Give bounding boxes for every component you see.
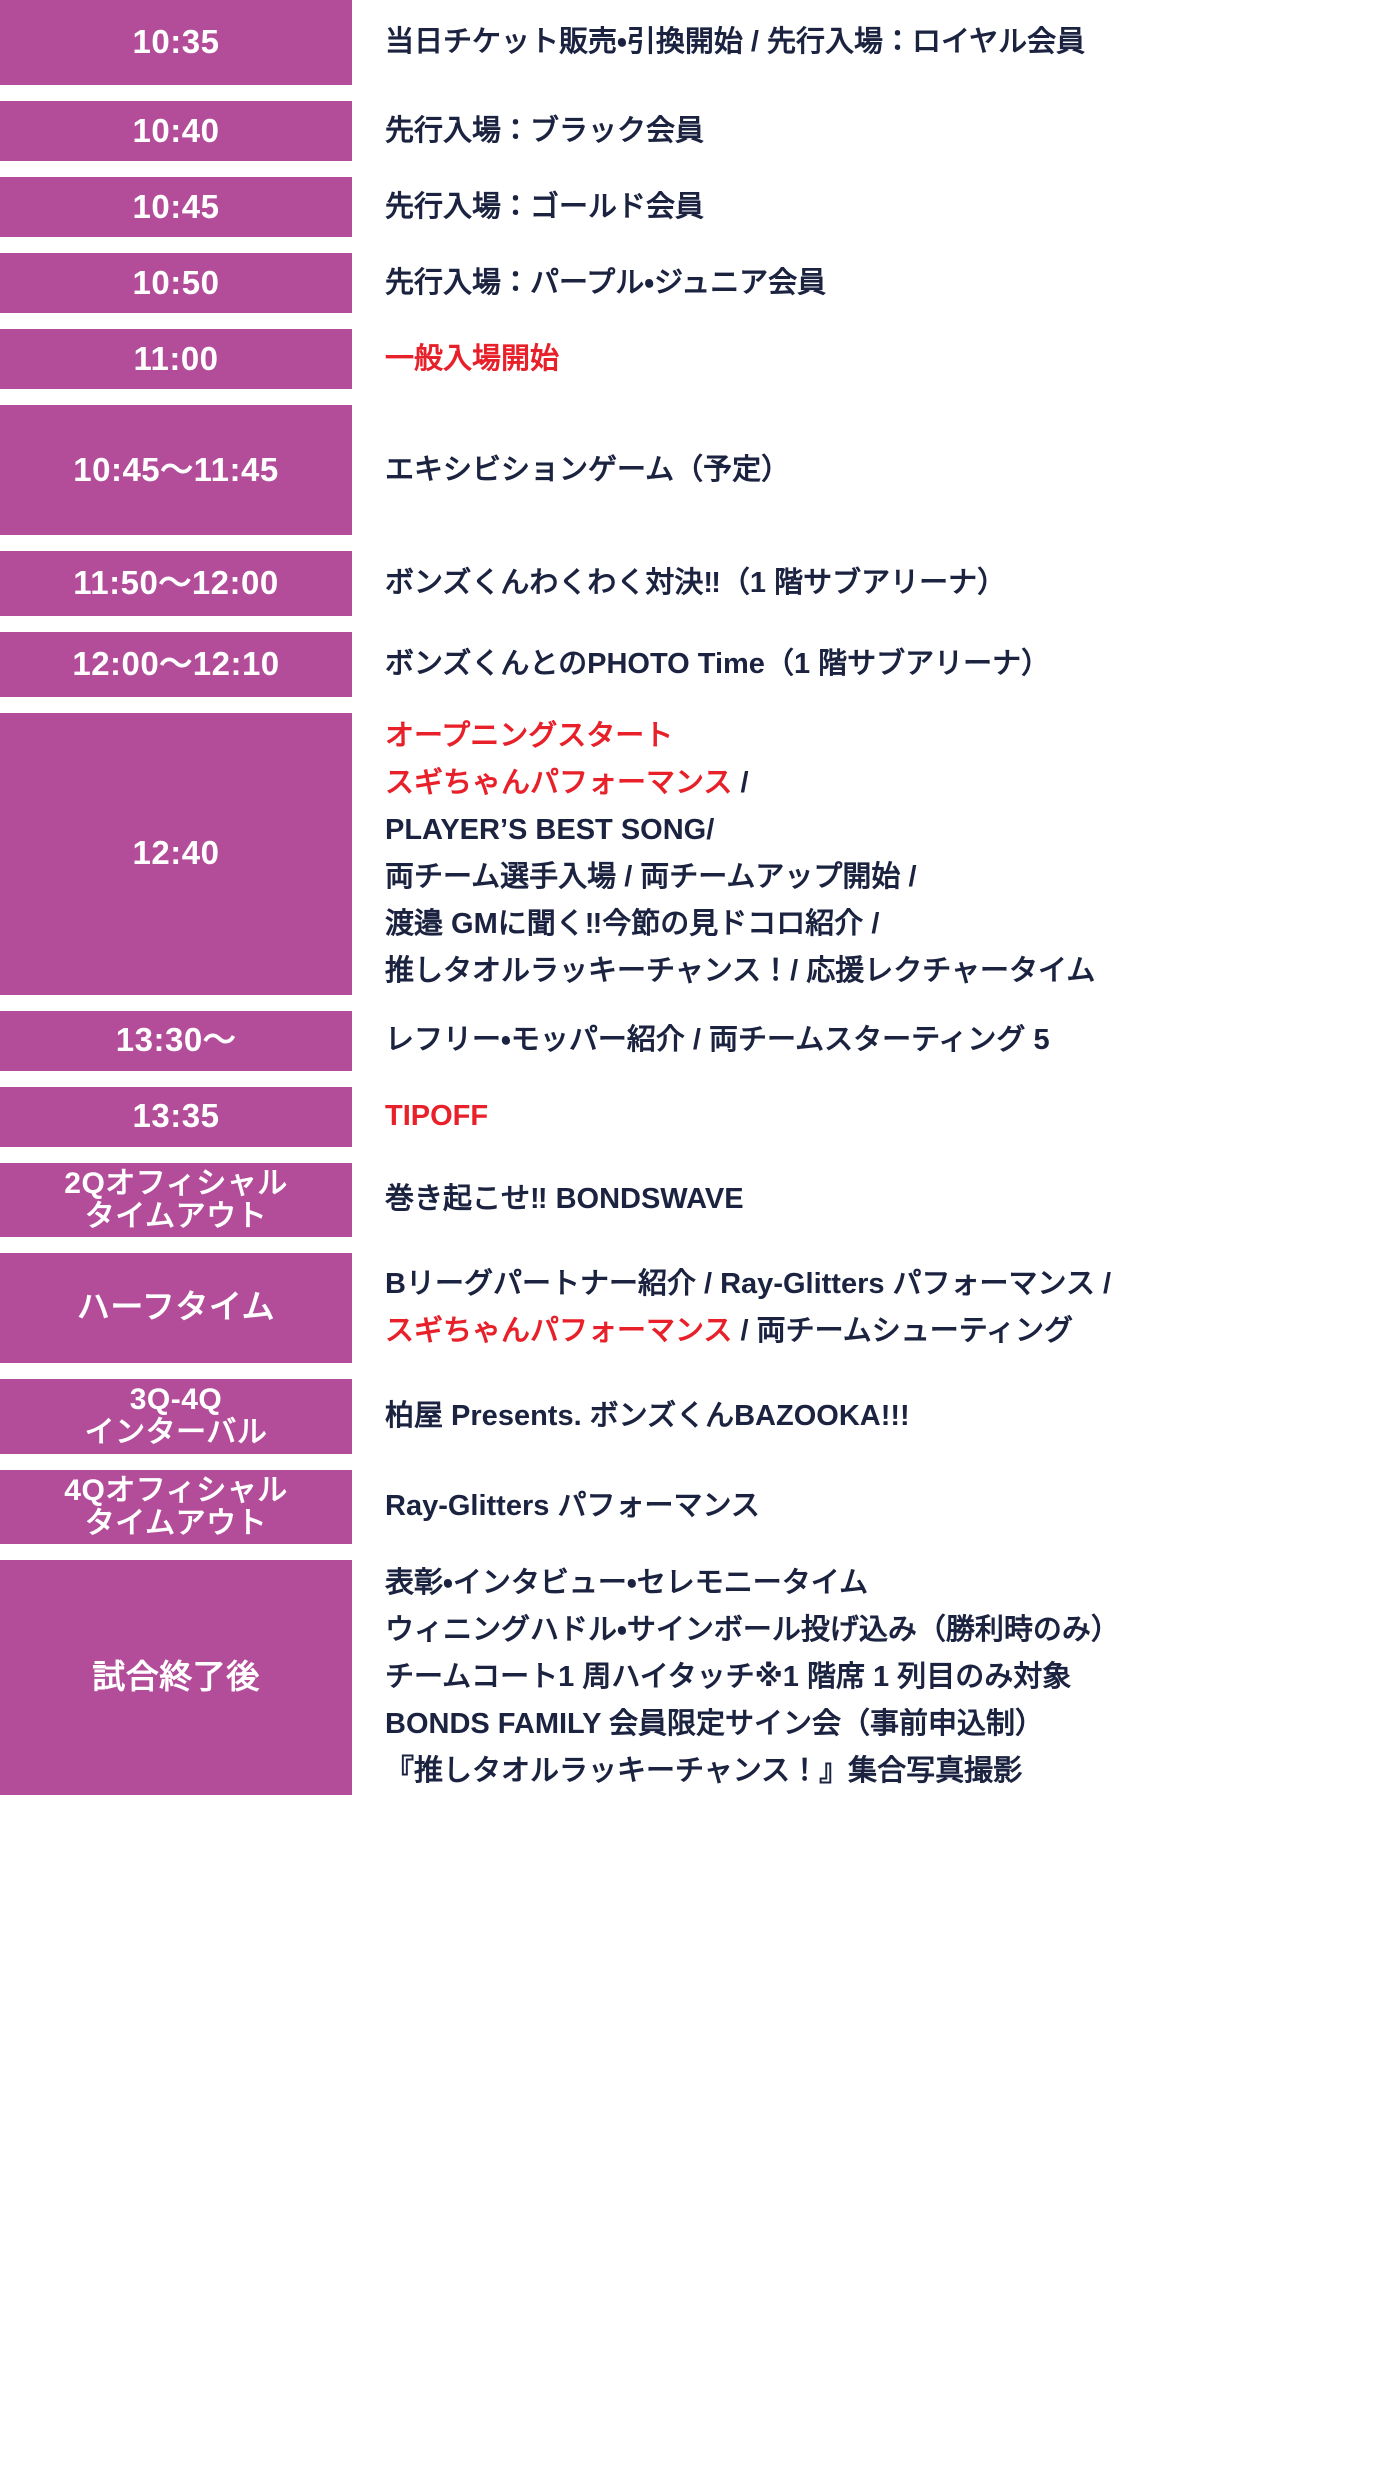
description-line: レフリー・モッパー紹介 / 両チームスターティング 5 <box>385 1017 1400 1064</box>
time-label-text: 10:40 <box>133 112 220 151</box>
timetable-row: 3Q-4Q インターバル柏屋 Presents. ボンズくんBAZOOKA!!! <box>0 1379 1400 1454</box>
description-line: 両チーム選手入場 / 両チームアップ開始 / <box>385 854 1400 901</box>
description-cell: TIPOFF <box>352 1087 1400 1147</box>
timetable-row: 10:45〜11:45エキシビションゲーム（予定） <box>0 405 1400 535</box>
description-line: チームコート1 周ハイタッチ※1 階席 1 列目のみ対象 <box>385 1654 1400 1701</box>
description-line: 先行入場：ブラック会員 <box>385 108 1400 155</box>
description-text: 渡邉 GMに聞く‼今節の見ドコロ紹介 / <box>385 908 879 940</box>
description-cell: 巻き起こせ‼ BONDSWAVE <box>352 1163 1400 1237</box>
description-line: 当日チケット販売・引換開始 / 先行入場：ロイヤル会員 <box>385 19 1400 66</box>
description-line: 先行入場：パープル・ジュニア会員 <box>385 260 1400 307</box>
description-cell: オープニングスタートスギちゃんパフォーマンス /PLAYER’S BEST SO… <box>352 713 1400 995</box>
timetable-row: 10:40先行入場：ブラック会員 <box>0 101 1400 161</box>
time-label: 13:35 <box>0 1087 352 1147</box>
description-cell: Ray-Glitters パフォーマンス <box>352 1470 1400 1544</box>
description-cell: 一般入場開始 <box>352 329 1400 389</box>
description-text: エキシビションゲーム（予定） <box>385 454 790 486</box>
timetable-row: 10:35当日チケット販売・引換開始 / 先行入場：ロイヤル会員 <box>0 0 1400 85</box>
description-text: PLAYER’S BEST SONG/ <box>385 814 714 846</box>
time-label: 12:40 <box>0 713 352 995</box>
description-text: 柏屋 Presents. ボンズくんBAZOOKA!!! <box>385 1400 910 1432</box>
description-text: 先行入場：パープル・ジュニア会員 <box>385 267 826 299</box>
description-line: スギちゃんパフォーマンス / <box>385 760 1400 807</box>
highlight-text: スギちゃんパフォーマンス <box>385 767 732 799</box>
time-label-text: 11:00 <box>133 340 218 379</box>
description-line: 表彰・インタビュー・セレモニータイム <box>385 1560 1400 1607</box>
timetable-row: 10:50先行入場：パープル・ジュニア会員 <box>0 253 1400 313</box>
description-text: ボンズくんわくわく対決‼（1 階サブアリーナ） <box>385 567 1006 599</box>
timetable-row: 試合終了後表彰・インタビュー・セレモニータイムウィニングハドル・サインボール投げ… <box>0 1560 1400 1795</box>
timetable-row: 12:40オープニングスタートスギちゃんパフォーマンス /PLAYER’S BE… <box>0 713 1400 995</box>
description-line: オープニングスタート <box>385 713 1400 760</box>
time-label-text: 12:40 <box>133 834 220 873</box>
description-text: 表彰・インタビュー・セレモニータイム <box>385 1567 868 1599</box>
description-text: レフリー・モッパー紹介 / 両チームスターティング 5 <box>385 1024 1050 1056</box>
description-line: スギちゃんパフォーマンス / 両チームシューティング <box>385 1308 1400 1355</box>
highlight-text: TIPOFF <box>385 1100 488 1132</box>
time-label-text: 10:45 <box>133 188 220 227</box>
description-line: BONDS FAMILY 会員限定サイン会（事前申込制） <box>385 1701 1400 1748</box>
description-line: Bリーグパートナー紹介 / Ray-Glitters パフォーマンス / <box>385 1261 1400 1308</box>
description-cell: エキシビションゲーム（予定） <box>352 405 1400 535</box>
time-label-text: 10:45〜11:45 <box>73 451 278 490</box>
description-text: 先行入場：ブラック会員 <box>385 115 704 147</box>
description-line: ボンズくんわくわく対決‼（1 階サブアリーナ） <box>385 560 1400 607</box>
description-line: 一般入場開始 <box>385 336 1400 383</box>
timetable-row: 13:30〜レフリー・モッパー紹介 / 両チームスターティング 5 <box>0 1011 1400 1071</box>
description-line: ボンズくんとのPHOTO Time（1 階サブアリーナ） <box>385 641 1400 688</box>
description-line: Ray-Glitters パフォーマンス <box>385 1483 1400 1530</box>
description-line: 巻き起こせ‼ BONDSWAVE <box>385 1176 1400 1223</box>
time-label-text: 12:00〜12:10 <box>72 645 279 684</box>
description-text: 推しタオルラッキーチャンス！/ 応援レクチャータイム <box>385 955 1095 987</box>
timetable-row: 13:35TIPOFF <box>0 1087 1400 1147</box>
highlight-text: 一般入場開始 <box>385 343 559 375</box>
description-cell: Bリーグパートナー紹介 / Ray-Glitters パフォーマンス /スギちゃ… <box>352 1253 1400 1363</box>
description-text: チームコート1 周ハイタッチ※1 階席 1 列目のみ対象 <box>385 1661 1071 1693</box>
description-text: 先行入場：ゴールド会員 <box>385 191 704 223</box>
description-line: ウィニングハドル・サインボール投げ込み（勝利時のみ） <box>385 1607 1400 1654</box>
description-cell: 先行入場：パープル・ジュニア会員 <box>352 253 1400 313</box>
description-cell: ボンズくんわくわく対決‼（1 階サブアリーナ） <box>352 551 1400 616</box>
description-cell: ボンズくんとのPHOTO Time（1 階サブアリーナ） <box>352 632 1400 697</box>
time-label: 12:00〜12:10 <box>0 632 352 697</box>
description-text: BONDS FAMILY 会員限定サイン会（事前申込制） <box>385 1708 1044 1740</box>
description-line: エキシビションゲーム（予定） <box>385 447 1400 494</box>
description-text: 両チーム選手入場 / 両チームアップ開始 / <box>385 861 917 893</box>
time-label: 10:45〜11:45 <box>0 405 352 535</box>
description-text: ウィニングハドル・サインボール投げ込み（勝利時のみ） <box>385 1614 1120 1646</box>
description-line: 柏屋 Presents. ボンズくんBAZOOKA!!! <box>385 1393 1400 1440</box>
description-text: / <box>732 767 748 799</box>
description-line: 『推しタオルラッキーチャンス！』集合写真撮影 <box>385 1748 1400 1795</box>
timetable-row: ハーフタイムBリーグパートナー紹介 / Ray-Glitters パフォーマンス… <box>0 1253 1400 1363</box>
description-cell: レフリー・モッパー紹介 / 両チームスターティング 5 <box>352 1011 1400 1071</box>
time-label-text: 11:50〜12:00 <box>73 564 278 603</box>
description-line: TIPOFF <box>385 1093 1400 1140</box>
time-label: 3Q-4Q インターバル <box>0 1379 352 1454</box>
time-label: 10:40 <box>0 101 352 161</box>
highlight-text: オープニングスタート <box>385 720 673 752</box>
description-text: 巻き起こせ‼ BONDSWAVE <box>385 1183 744 1215</box>
time-label-text: ハーフタイム <box>77 1288 275 1327</box>
description-cell: 表彰・インタビュー・セレモニータイムウィニングハドル・サインボール投げ込み（勝利… <box>352 1560 1400 1795</box>
highlight-text: スギちゃんパフォーマンス <box>385 1315 732 1347</box>
description-text: Ray-Glitters パフォーマンス <box>385 1490 760 1522</box>
description-text: ボンズくんとのPHOTO Time（1 階サブアリーナ） <box>385 648 1050 680</box>
description-line: 渡邉 GMに聞く‼今節の見ドコロ紹介 / <box>385 901 1400 948</box>
time-label: 11:50〜12:00 <box>0 551 352 616</box>
event-timetable: 10:35当日チケット販売・引換開始 / 先行入場：ロイヤル会員10:40先行入… <box>0 0 1400 1795</box>
timetable-row: 2Qオフィシャル タイムアウト巻き起こせ‼ BONDSWAVE <box>0 1163 1400 1237</box>
timetable-row: 4Qオフィシャル タイムアウトRay-Glitters パフォーマンス <box>0 1470 1400 1544</box>
time-label: 4Qオフィシャル タイムアウト <box>0 1470 352 1544</box>
description-line: PLAYER’S BEST SONG/ <box>385 807 1400 854</box>
timetable-row: 11:00一般入場開始 <box>0 329 1400 389</box>
description-text: Bリーグパートナー紹介 / Ray-Glitters パフォーマンス / <box>385 1268 1111 1300</box>
description-text: / 両チームシューティング <box>732 1315 1073 1347</box>
description-line: 推しタオルラッキーチャンス！/ 応援レクチャータイム <box>385 948 1400 995</box>
time-label-text: 13:35 <box>133 1097 220 1136</box>
description-cell: 先行入場：ゴールド会員 <box>352 177 1400 237</box>
description-cell: 柏屋 Presents. ボンズくんBAZOOKA!!! <box>352 1379 1400 1454</box>
time-label-text: 13:30〜 <box>116 1021 236 1060</box>
timetable-row: 10:45先行入場：ゴールド会員 <box>0 177 1400 237</box>
time-label-text: 2Qオフィシャル タイムアウト <box>64 1167 287 1233</box>
time-label-text: 10:35 <box>133 23 220 62</box>
time-label: 10:45 <box>0 177 352 237</box>
description-cell: 当日チケット販売・引換開始 / 先行入場：ロイヤル会員 <box>352 0 1400 85</box>
timetable-row: 12:00〜12:10ボンズくんとのPHOTO Time（1 階サブアリーナ） <box>0 632 1400 697</box>
time-label: 10:50 <box>0 253 352 313</box>
description-text: 『推しタオルラッキーチャンス！』集合写真撮影 <box>385 1755 1022 1787</box>
time-label-text: 10:50 <box>133 264 220 303</box>
description-cell: 先行入場：ブラック会員 <box>352 101 1400 161</box>
time-label: 試合終了後 <box>0 1560 352 1795</box>
description-line: 先行入場：ゴールド会員 <box>385 184 1400 231</box>
time-label: ハーフタイム <box>0 1253 352 1363</box>
description-text: 当日チケット販売・引換開始 / 先行入場：ロイヤル会員 <box>385 26 1085 58</box>
time-label-text: 試合終了後 <box>92 1658 260 1697</box>
time-label-text: 3Q-4Q インターバル <box>85 1383 268 1449</box>
time-label: 2Qオフィシャル タイムアウト <box>0 1163 352 1237</box>
time-label-text: 4Qオフィシャル タイムアウト <box>64 1474 287 1540</box>
time-label: 11:00 <box>0 329 352 389</box>
timetable-row: 11:50〜12:00ボンズくんわくわく対決‼（1 階サブアリーナ） <box>0 551 1400 616</box>
time-label: 10:35 <box>0 0 352 85</box>
time-label: 13:30〜 <box>0 1011 352 1071</box>
